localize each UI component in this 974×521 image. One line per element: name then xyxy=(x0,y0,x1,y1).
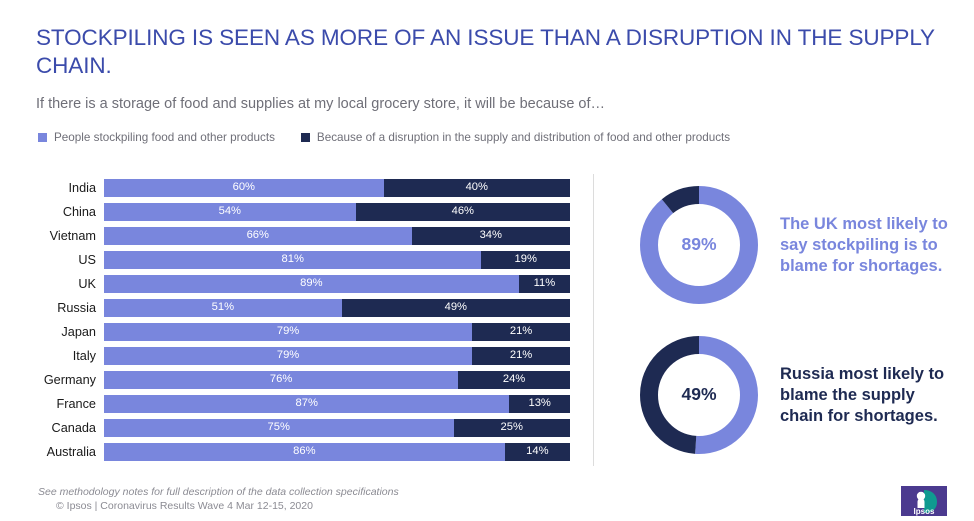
legend-swatch-icon xyxy=(301,133,310,142)
donut-center: 49% xyxy=(667,363,731,427)
bar-row-label: France xyxy=(36,397,104,411)
bar-row: US81%19% xyxy=(36,248,570,272)
bar-segment-value: 60% xyxy=(233,182,255,193)
bar-segment-stockpiling[interactable]: 75% xyxy=(104,419,454,437)
legend-swatch-icon xyxy=(38,133,47,142)
bar-segment-disruption[interactable]: 46% xyxy=(356,203,570,221)
bar-track: 75%25% xyxy=(104,419,570,437)
bar-segment-disruption[interactable]: 11% xyxy=(519,275,570,293)
bar-track: 86%14% xyxy=(104,443,570,461)
bar-row: Russia51%49% xyxy=(36,296,570,320)
bar-row-label: Germany xyxy=(36,373,104,387)
panel-divider xyxy=(593,174,594,466)
bar-segment-value: 76% xyxy=(270,374,292,385)
bar-segment-value: 75% xyxy=(268,422,290,433)
bar-segment-stockpiling[interactable]: 66% xyxy=(104,227,412,245)
bar-row-label: UK xyxy=(36,277,104,291)
bar-segment-stockpiling[interactable]: 51% xyxy=(104,299,342,317)
bar-segment-stockpiling[interactable]: 87% xyxy=(104,395,509,413)
bar-row-label: Vietnam xyxy=(36,229,104,243)
bar-track: 87%13% xyxy=(104,395,570,413)
copyright-note: © Ipsos | Coronavirus Results Wave 4 Mar… xyxy=(56,500,313,512)
donut-chart-89: 89% xyxy=(640,186,758,304)
bar-segment-stockpiling[interactable]: 60% xyxy=(104,179,384,197)
bar-segment-value: 79% xyxy=(277,326,299,337)
bar-row-label: India xyxy=(36,181,104,195)
bar-segment-disruption[interactable]: 19% xyxy=(481,251,570,269)
bar-row: France87%13% xyxy=(36,392,570,416)
bar-segment-stockpiling[interactable]: 86% xyxy=(104,443,505,461)
bar-segment-stockpiling[interactable]: 54% xyxy=(104,203,356,221)
page-title: STOCKPILING IS SEEN AS MORE OF AN ISSUE … xyxy=(36,24,936,80)
bar-segment-value: 81% xyxy=(282,254,304,265)
bar-segment-disruption[interactable]: 40% xyxy=(384,179,570,197)
bar-segment-disruption[interactable]: 14% xyxy=(505,443,570,461)
bar-segment-value: 21% xyxy=(510,326,532,337)
bar-segment-value: 21% xyxy=(510,350,532,361)
bar-segment-value: 86% xyxy=(293,446,315,457)
bar-segment-value: 13% xyxy=(528,398,550,409)
bar-row: Germany76%24% xyxy=(36,368,570,392)
bar-segment-stockpiling[interactable]: 76% xyxy=(104,371,458,389)
bar-segment-value: 54% xyxy=(219,206,241,217)
legend-item-disruption[interactable]: Because of a disruption in the supply an… xyxy=(301,131,730,144)
bar-segment-disruption[interactable]: 49% xyxy=(342,299,570,317)
ipsos-logo: Ipsos xyxy=(901,486,947,516)
bar-row-label: Japan xyxy=(36,325,104,339)
bar-segment-stockpiling[interactable]: 79% xyxy=(104,347,472,365)
donut-callout-text: Russia most likely to blame the supply c… xyxy=(780,364,956,427)
bar-row: Japan79%21% xyxy=(36,320,570,344)
stacked-bar-chart: India60%40%China54%46%Vietnam66%34%US81%… xyxy=(36,176,570,464)
bar-track: 81%19% xyxy=(104,251,570,269)
bar-row: UK89%11% xyxy=(36,272,570,296)
bar-track: 60%40% xyxy=(104,179,570,197)
bar-segment-value: 46% xyxy=(452,206,474,217)
bar-segment-value: 24% xyxy=(503,374,525,385)
bar-row-label: China xyxy=(36,205,104,219)
bar-row: Vietnam66%34% xyxy=(36,224,570,248)
bar-segment-stockpiling[interactable]: 79% xyxy=(104,323,472,341)
bar-segment-value: 19% xyxy=(515,254,537,265)
bar-row: India60%40% xyxy=(36,176,570,200)
donut-value-label: 89% xyxy=(681,236,716,254)
bar-segment-disruption[interactable]: 21% xyxy=(472,347,570,365)
bar-segment-value: 40% xyxy=(466,182,488,193)
bar-segment-value: 25% xyxy=(501,422,523,433)
bar-row-label: Australia xyxy=(36,445,104,459)
donut-callout-russia: 49% Russia most likely to blame the supp… xyxy=(640,336,956,454)
bar-track: 66%34% xyxy=(104,227,570,245)
bar-segment-disruption[interactable]: 25% xyxy=(454,419,571,437)
ipsos-logo-icon: Ipsos xyxy=(901,486,947,516)
bar-segment-disruption[interactable]: 24% xyxy=(458,371,570,389)
chart-legend: People stockpiling food and other produc… xyxy=(38,131,730,144)
svg-text:Ipsos: Ipsos xyxy=(914,507,935,516)
legend-item-label: Because of a disruption in the supply an… xyxy=(317,131,730,144)
bar-segment-value: 34% xyxy=(480,230,502,241)
donut-chart-49: 49% xyxy=(640,336,758,454)
bar-segment-stockpiling[interactable]: 89% xyxy=(104,275,519,293)
bar-row: Australia86%14% xyxy=(36,440,570,464)
bar-segment-value: 51% xyxy=(212,302,234,313)
bar-row: China54%46% xyxy=(36,200,570,224)
bar-segment-value: 79% xyxy=(277,350,299,361)
bar-segment-value: 66% xyxy=(247,230,269,241)
bar-segment-disruption[interactable]: 13% xyxy=(509,395,570,413)
donut-callout-uk: 89% The UK most likely to say stockpilin… xyxy=(640,186,956,304)
bar-track: 54%46% xyxy=(104,203,570,221)
slide-root: STOCKPILING IS SEEN AS MORE OF AN ISSUE … xyxy=(0,0,974,518)
bar-segment-value: 49% xyxy=(445,302,467,313)
legend-item-label: People stockpiling food and other produc… xyxy=(54,131,275,144)
bar-segment-value: 87% xyxy=(296,398,318,409)
bar-track: 76%24% xyxy=(104,371,570,389)
bar-segment-value: 11% xyxy=(534,278,556,289)
bar-segment-value: 89% xyxy=(300,278,322,289)
bar-segment-disruption[interactable]: 21% xyxy=(472,323,570,341)
bar-segment-value: 14% xyxy=(526,446,548,457)
bar-track: 79%21% xyxy=(104,347,570,365)
bar-row-label: Canada xyxy=(36,421,104,435)
bar-track: 89%11% xyxy=(104,275,570,293)
donut-value-label: 49% xyxy=(681,386,716,404)
bar-row-label: Russia xyxy=(36,301,104,315)
chart-subtitle: If there is a storage of food and suppli… xyxy=(36,96,916,112)
methodology-note: See methodology notes for full descripti… xyxy=(38,486,399,498)
bar-segment-stockpiling[interactable]: 81% xyxy=(104,251,481,269)
bar-track: 51%49% xyxy=(104,299,570,317)
bar-row: Italy79%21% xyxy=(36,344,570,368)
donut-center: 89% xyxy=(667,213,731,277)
legend-item-stockpiling[interactable]: People stockpiling food and other produc… xyxy=(38,131,275,144)
bar-row: Canada75%25% xyxy=(36,416,570,440)
bar-row-label: US xyxy=(36,253,104,267)
donut-callout-text: The UK most likely to say stockpiling is… xyxy=(780,214,956,277)
bar-row-label: Italy xyxy=(36,349,104,363)
bar-track: 79%21% xyxy=(104,323,570,341)
bar-segment-disruption[interactable]: 34% xyxy=(412,227,570,245)
